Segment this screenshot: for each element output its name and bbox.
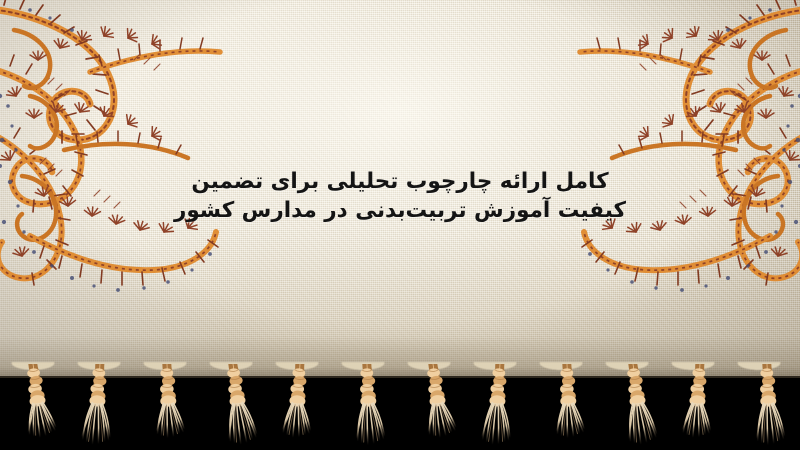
- tassel: [669, 364, 731, 450]
- tassel: [736, 364, 798, 450]
- tassel: [469, 364, 531, 450]
- tassel: [69, 364, 131, 450]
- tassel: [2, 364, 64, 450]
- paisley-ornament-left-icon: [0, 0, 234, 352]
- tassel: [269, 364, 331, 450]
- tassel: [602, 364, 664, 450]
- tassel: [336, 364, 398, 450]
- tassel: [402, 364, 464, 450]
- tassel: [136, 364, 198, 450]
- slide-canvas: کامل ارائه چارچوب تحلیلی برای تضمین کیفی…: [0, 0, 800, 450]
- tassel: [536, 364, 598, 450]
- tassel: [202, 364, 264, 450]
- paisley-ornament-right-icon: [566, 0, 800, 352]
- tassel-fringe: [0, 364, 800, 450]
